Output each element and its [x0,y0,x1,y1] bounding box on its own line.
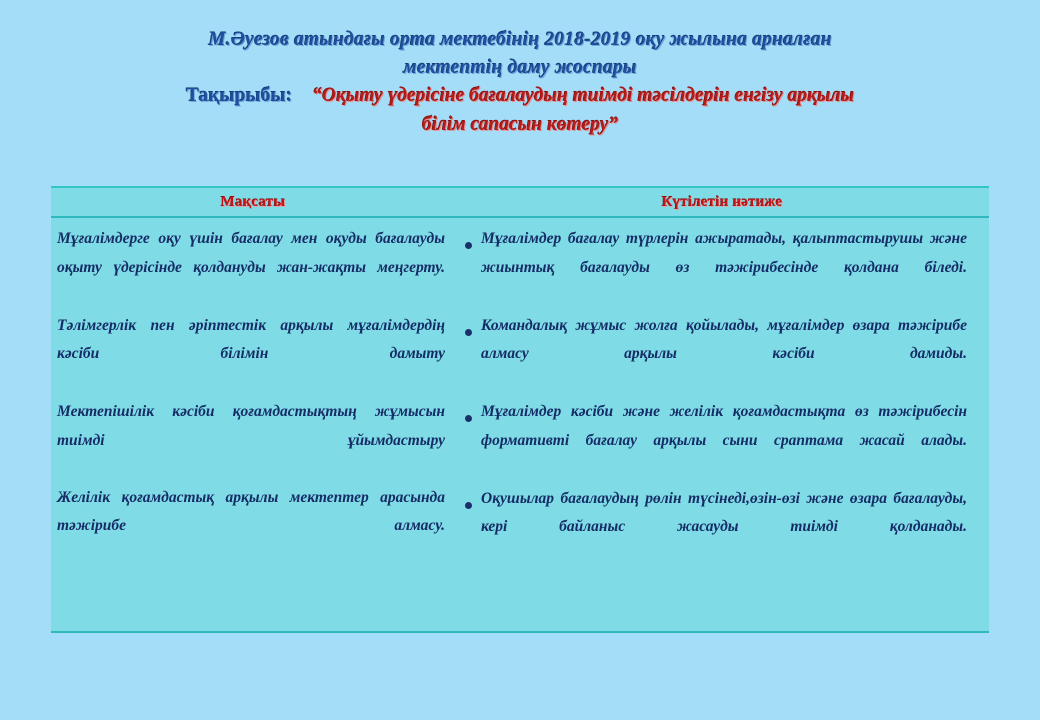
table-header-row: Мақсаты Күтілетін нәтиже [51,188,989,216]
bullet-icon [455,225,481,254]
subject-label: Тақырыбы: [186,85,292,106]
plan-table: Мақсаты Күтілетін нәтиже Мұғалімдерге оқ… [51,186,989,633]
result-item-text: Оқушылар бағалаудың рөлін түсінеді,өзін-… [481,485,967,571]
subject-row-1: Тақырыбы: “Оқыту үдерісіне бағалаудың ти… [0,82,1040,111]
result-item: Мұғалімдер кәсіби және желілік қоғамдаст… [455,398,967,484]
title-block: М.Әуезов атындағы орта мектебінің 2018-2… [0,0,1040,140]
subject-row-2: білім сапасын көтеру” [0,111,1040,140]
result-item: Командалық жұмыс жолға қойылады, мұғалім… [455,312,967,398]
result-item: Мұғалімдер бағалау түрлерін ажыратады, қ… [455,225,967,311]
result-item-text: Мұғалімдер бағалау түрлерін ажыратады, қ… [481,225,967,311]
result-item-text: Мұғалімдер кәсіби және желілік қоғамдаст… [481,398,967,484]
bullet-icon [455,312,481,341]
column-header-results: Күтілетін нәтиже [455,194,989,211]
subject-text-line-2: білім сапасын көтеру” [422,114,618,135]
column-header-goals: Мақсаты [51,194,455,211]
result-item: Оқушылар бағалаудың рөлін түсінеді,өзін-… [455,485,967,571]
goal-item: Желілік қоғамдастық арқылы мектептер ара… [57,484,445,570]
subject-text-line-1: “Оқыту үдерісіне бағалаудың тиімді тәсіл… [312,85,854,106]
goal-item: Тәлімгерлік пен әріптестік арқылы мұғалі… [57,312,445,398]
goal-item: Мұғалімдерге оқу үшін бағалау мен оқуды … [57,225,445,311]
goals-column: Мұғалімдерге оқу үшін бағалау мен оқуды … [51,218,455,570]
goal-item: Мектепішілік кәсіби қоғамдастықтың жұмыс… [57,398,445,484]
table-body-row: Мұғалімдерге оқу үшін бағалау мен оқуды … [51,218,989,571]
bullet-icon [455,485,481,514]
result-item-text: Командалық жұмыс жолға қойылады, мұғалім… [481,312,967,398]
results-column: Мұғалімдер бағалау түрлерін ажыратады, қ… [455,218,989,571]
title-line-2: мектептің даму жоспары [0,54,1040,82]
table-bottom-rule [51,631,989,633]
title-line-1: М.Әуезов атындағы орта мектебінің 2018-2… [0,26,1040,54]
bullet-icon [455,398,481,427]
